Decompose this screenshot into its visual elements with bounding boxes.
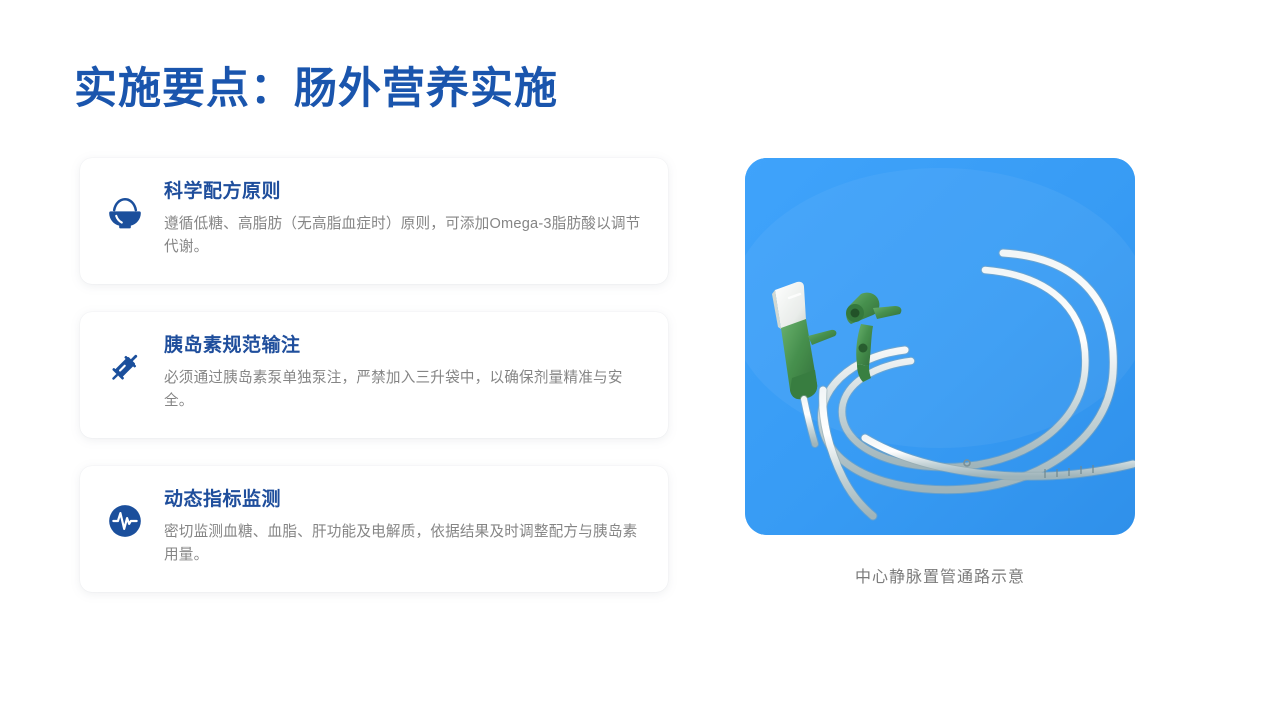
catheter-photo [745, 158, 1135, 535]
syringe-icon [102, 344, 148, 390]
page-title: 实施要点：肠外营养实施 [74, 64, 558, 116]
pulse-circle-icon [102, 498, 148, 544]
bowl-icon [102, 190, 148, 236]
feature-card-body: 密切监测血糖、血脂、肝功能及电解质，依据结果及时调整配方与胰岛素用量。 [164, 521, 644, 568]
feature-card-title: 胰岛素规范输注 [164, 334, 644, 358]
feature-card-title: 动态指标监测 [164, 488, 644, 512]
figure: 中心静脉置管通路示意 [745, 158, 1135, 587]
feature-card[interactable]: 科学配方原则 遵循低糖、高脂肪（无高脂血症时）原则，可添加Omega-3脂肪酸以… [80, 158, 668, 284]
feature-card-body: 遵循低糖、高脂肪（无高脂血症时）原则，可添加Omega-3脂肪酸以调节代谢。 [164, 213, 644, 260]
feature-card-body: 必须通过胰岛素泵单独泵注，严禁加入三升袋中，以确保剂量精准与安全。 [164, 367, 644, 414]
feature-card[interactable]: 动态指标监测 密切监测血糖、血脂、肝功能及电解质，依据结果及时调整配方与胰岛素用… [80, 466, 668, 592]
slide-root: 实施要点：肠外营养实施 科学配方原则 遵循低糖、高脂肪（无高脂血症时）原则，可添… [0, 0, 1280, 720]
feature-card-title: 科学配方原则 [164, 180, 644, 204]
figure-caption: 中心静脉置管通路示意 [745, 563, 1135, 587]
feature-card-list: 科学配方原则 遵循低糖、高脂肪（无高脂血症时）原则，可添加Omega-3脂肪酸以… [80, 158, 668, 620]
feature-card[interactable]: 胰岛素规范输注 必须通过胰岛素泵单独泵注，严禁加入三升袋中，以确保剂量精准与安全… [80, 312, 668, 438]
